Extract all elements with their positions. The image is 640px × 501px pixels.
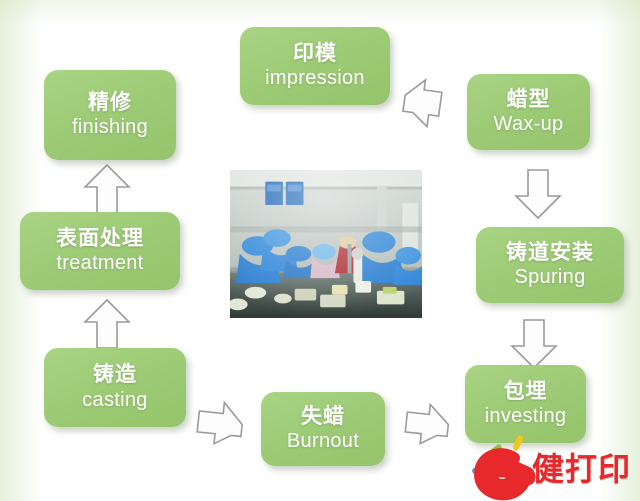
arrow-down-icon	[512, 168, 564, 220]
node-label-zh: 铸造	[93, 364, 137, 386]
logo-text: 健打印	[532, 444, 631, 490]
process-node-impression[interactable]: 印模 impression	[240, 27, 390, 105]
workflow-diagram: 印模 impression 蜡型 Wax-up 铸道安装 Spuring 包埋 …	[0, 0, 640, 501]
process-node-finishing[interactable]: 精修 finishing	[44, 70, 176, 160]
node-label-en: impression	[265, 68, 365, 89]
arrow-down-icon	[508, 318, 560, 370]
node-label-zh: 包埋	[504, 381, 548, 403]
node-label-en: treatment	[56, 253, 143, 274]
arrow-up-icon	[82, 163, 132, 215]
brand-logo: 健打印	[462, 434, 640, 501]
arrow-up-icon	[82, 298, 132, 350]
process-node-treatment[interactable]: 表面处理 treatment	[20, 212, 180, 290]
process-node-investing[interactable]: 包埋 investing	[465, 365, 586, 443]
arrow-up-left-icon	[398, 400, 452, 452]
process-node-waxup[interactable]: 蜡型 Wax-up	[467, 74, 590, 150]
process-node-burnout[interactable]: 失蜡 Burnout	[261, 392, 385, 466]
node-label-en: Wax-up	[494, 114, 564, 135]
node-label-en: casting	[82, 390, 147, 411]
process-node-spuring[interactable]: 铸道安装 Spuring	[476, 227, 624, 303]
node-label-en: Spuring	[514, 267, 585, 288]
node-label-en: investing	[485, 406, 567, 427]
node-label-zh: 失蜡	[301, 406, 345, 428]
node-label-zh: 蜡型	[507, 89, 551, 111]
node-label-zh: 铸道安装	[506, 242, 594, 264]
process-node-casting[interactable]: 铸造 casting	[44, 348, 186, 427]
node-label-en: finishing	[72, 117, 148, 138]
node-label-zh: 印模	[293, 43, 337, 65]
node-label-en: Burnout	[287, 431, 359, 452]
workshop-photo	[228, 168, 424, 320]
arrow-down-right-icon	[400, 78, 448, 132]
node-label-zh: 精修	[88, 92, 132, 114]
node-label-zh: 表面处理	[56, 228, 144, 250]
arrow-up-left-icon	[190, 398, 246, 452]
